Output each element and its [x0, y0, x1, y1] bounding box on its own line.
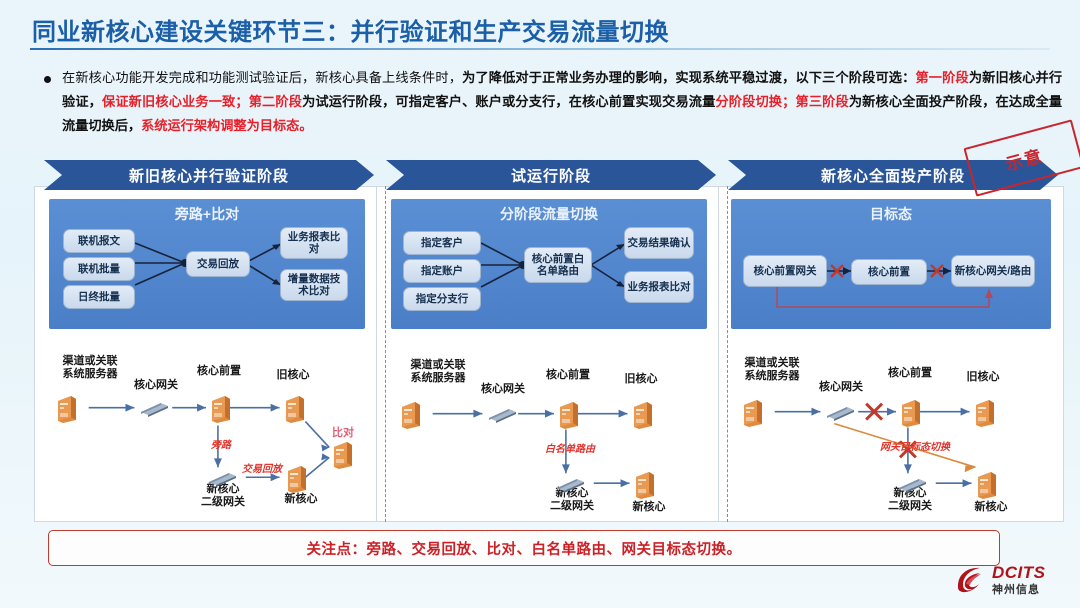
paragraph-segment-7: 分阶段切换；: [715, 94, 795, 109]
flow-box-3: 目标态 核心前置网关 核心前置 新核心网关/路由: [731, 199, 1051, 329]
flow-input-1-1: 联机报文: [63, 229, 135, 253]
flow-chain-3-1: 核心前置网关: [743, 255, 827, 287]
bullet-marker: [44, 76, 51, 83]
dcits-cn-name: 神州信息: [992, 581, 1040, 597]
server-icon: [633, 471, 655, 499]
flow-title-3: 目标态: [731, 204, 1051, 224]
node-label-2-gateway: 核心网关: [469, 383, 537, 396]
flow-box-1: 旁路+比对 联机报文 联机批量 日终批量 交易回放 业务报表比对 增量数据技术比…: [49, 199, 365, 329]
dcits-mark-icon: [954, 564, 988, 594]
flow-input-2-1: 指定客户: [403, 231, 481, 255]
switch-icon: [555, 477, 585, 493]
edge-label-3-gateway-switch: 网关目标态切换: [867, 441, 963, 454]
column-divider-1: [385, 186, 386, 522]
node-label-1-gateway: 核心网关: [123, 379, 189, 392]
flow-input-2-3: 指定分支行: [403, 287, 481, 311]
server-icon: [55, 395, 77, 423]
node-label-2-oldcore: 旧核心: [611, 373, 671, 386]
server-icon: [557, 401, 579, 429]
node-label-1-compare: 比对: [319, 427, 367, 440]
switch-icon: [825, 405, 855, 421]
server-icon: [631, 401, 653, 429]
edge-label-1-bypass: 旁路: [201, 439, 241, 452]
node-label-2-frontend: 核心前置: [531, 369, 605, 382]
flow-chain-3-3: 新核心网关/路由: [951, 255, 1035, 287]
flow-hub-2: 核心前置白名单路由: [524, 247, 592, 283]
edge-label-1-replay: 交易回放: [235, 463, 289, 476]
node-label-3-newcore: 新核心: [961, 501, 1021, 514]
flow-box-2: 分阶段流量切换 指定客户 指定账户 指定分支行 核心前置白名单路由 交易结果确认…: [391, 199, 707, 329]
title-divider: [30, 48, 1050, 50]
paragraph-segment-10: 系统运行架构调整为目标态。: [141, 118, 312, 133]
node-label-3-oldcore: 旧核心: [953, 371, 1013, 384]
paragraph-segment-8: 第三阶段: [795, 94, 849, 109]
switch-icon: [897, 477, 927, 493]
stage-panel-1: 旁路+比对 联机报文 联机批量 日终批量 交易回放 业务报表比对 增量数据技术比…: [34, 186, 378, 522]
flow-output-1-2: 增量数据技术比对: [280, 269, 348, 301]
stage-banner-1: 新旧核心并行验证阶段: [44, 160, 374, 190]
server-icon: [209, 395, 231, 423]
dcits-wordmark: DCITS: [992, 563, 1046, 583]
stage-panel-3: 目标态 核心前置网关 核心前置 新核心网关/路由: [718, 186, 1064, 522]
paragraph-segment-2: 第一阶段: [915, 70, 968, 85]
flow-title-1: 旁路+比对: [49, 204, 365, 224]
flow-output-2-2: 业务报表比对: [624, 271, 694, 303]
dcits-logo: DCITS 神州信息: [954, 560, 1070, 600]
server-icon: [331, 441, 353, 469]
flow-title-2: 分阶段流量切换: [391, 204, 707, 224]
edge-label-2-whitelist: 白名单路由: [535, 443, 605, 456]
paragraph-segment-1: 为了降低对于正常业务办理的影响，实现系统平稳过渡，以下三个阶段可选：: [462, 70, 915, 85]
flow-output-1-1: 业务报表比对: [280, 227, 348, 259]
switch-icon: [487, 407, 517, 423]
node-label-2-source: 渠道或关联 系统服务器: [391, 359, 485, 385]
flow-hub-1: 交易回放: [186, 251, 250, 277]
slide-root: 同业新核心建设关键环节三：并行验证和生产交易流量切换 在新核心功能开发完成和功能…: [0, 0, 1080, 608]
server-icon: [285, 465, 307, 493]
paragraph-segment-6: 为试运行阶段，可指定客户、账户或分支行，在核心前置实现交易流量: [302, 94, 715, 109]
server-icon: [975, 471, 997, 499]
node-label-3-frontend: 核心前置: [873, 367, 947, 380]
flow-input-2-2: 指定账户: [403, 259, 481, 283]
node-label-1-newcore: 新核心: [271, 493, 331, 506]
node-label-1-source: 渠道或关联 系统服务器: [45, 355, 135, 381]
node-label-1-oldcore: 旧核心: [263, 369, 323, 382]
flow-chain-3-2: 核心前置: [851, 259, 927, 285]
switch-icon: [139, 401, 169, 417]
node-label-3-gateway: 核心网关: [807, 381, 875, 394]
flow-output-2-1: 交易结果确认: [624, 227, 694, 259]
paragraph-segment-4: 保证新旧核心业务一致；: [102, 94, 249, 109]
stage-banner-2: 试运行阶段: [386, 160, 716, 190]
stage-panel-2: 分阶段流量切换 指定客户 指定账户 指定分支行 核心前置白名单路由 交易结果确认…: [376, 186, 720, 522]
node-label-1-frontend: 核心前置: [183, 365, 255, 378]
flow-input-1-3: 日终批量: [63, 285, 135, 309]
server-icon: [973, 399, 995, 427]
node-label-2-newcore: 新核心: [619, 501, 679, 514]
switch-icon: [207, 471, 237, 487]
server-icon: [283, 395, 305, 423]
column-divider-2: [727, 186, 728, 522]
flow-input-1-2: 联机批量: [63, 257, 135, 281]
intro-paragraph: 在新核心功能开发完成和功能测试验证后，新核心具备上线条件时，为了降低对于正常业务…: [62, 66, 1062, 138]
server-icon: [899, 399, 921, 427]
page-title: 同业新核心建设关键环节三：并行验证和生产交易流量切换: [32, 12, 669, 47]
server-icon: [399, 401, 421, 429]
key-points-note: 关注点：旁路、交易回放、比对、白名单路由、网关目标态切换。: [48, 530, 1000, 566]
paragraph-segment-5: 第二阶段: [249, 94, 303, 109]
paragraph-segment-0: 在新核心功能开发完成和功能测试验证后，新核心具备上线条件时，: [62, 70, 462, 85]
node-label-3-source: 渠道或关联 系统服务器: [725, 357, 819, 383]
server-icon: [741, 399, 763, 427]
